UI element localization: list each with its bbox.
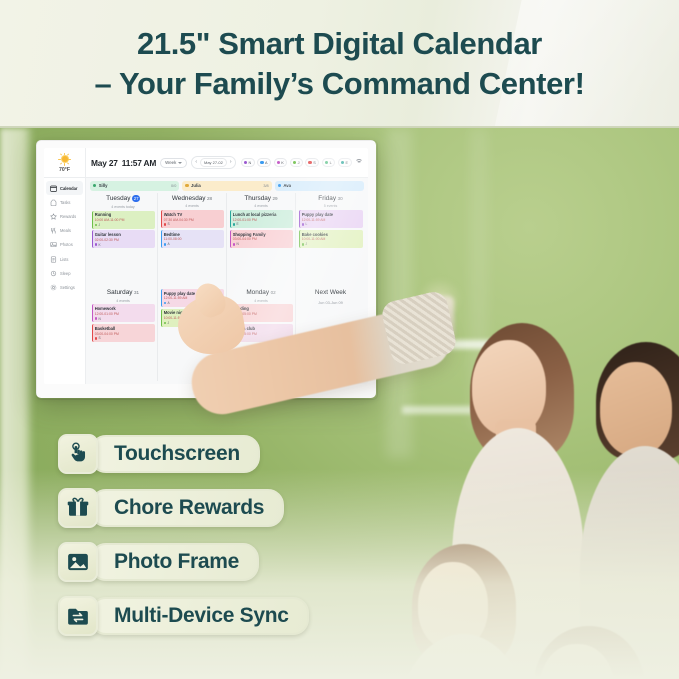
day-number: 02: [271, 290, 276, 295]
event-assignee: S: [95, 336, 153, 340]
headline-line-1: 21.5" Smart Digital Calendar: [137, 24, 542, 64]
assignee-dot: [95, 224, 98, 227]
event-title: Watch TV: [164, 212, 222, 217]
member-color-dot: [93, 184, 96, 187]
event-card[interactable]: Lunch at local pizzeria12:00-01:00 PME: [230, 210, 293, 228]
day-event-count: 4 events: [161, 204, 224, 208]
assignee-dot: [233, 243, 236, 246]
feature-icon-box: [58, 434, 98, 474]
assignee-dot: [233, 223, 236, 226]
avatar-chip-k[interactable]: K: [274, 158, 288, 166]
current-time: 11:57 AM: [122, 158, 156, 168]
feature-badge-list: TouchscreenChore RewardsPhoto FrameMulti…: [58, 434, 309, 636]
day-column-saturday[interactable]: Saturday314 eventsHomework12:00-01:00 PM…: [89, 287, 158, 381]
sidebar-item-label: Rewards: [60, 214, 76, 219]
feature-badge-multi-device-sync: Multi-Device Sync: [58, 596, 309, 636]
avatar-dot: [293, 161, 296, 164]
event-time: 03:00-04:00 PM: [95, 332, 153, 336]
avatar-initial: S: [313, 161, 316, 165]
assignee-initial: L: [305, 222, 307, 226]
father-face: [600, 362, 672, 456]
event-time: 12:00-01:00 PM: [95, 312, 153, 316]
event-card[interactable]: Puppy play date12:00-11:59 AML: [299, 210, 363, 228]
sidebar-item-meals[interactable]: Meals: [46, 224, 83, 238]
member-card-ava[interactable]: Ava: [275, 181, 364, 191]
view-mode-label: Week: [165, 160, 176, 165]
day-header: Friday30: [299, 195, 363, 202]
sync-icon: [66, 604, 90, 628]
day-header: Thursday29: [230, 195, 293, 202]
temperature-value: 70°F: [59, 167, 70, 173]
assignee-initial: E: [236, 222, 238, 226]
assignee-dot: [164, 322, 167, 325]
avatar-initial: N: [248, 161, 251, 165]
app-sidebar: CalendarTasksRewardsMealsPhotosListsSlee…: [44, 178, 86, 384]
avatar-chip-s[interactable]: S: [305, 158, 319, 166]
event-title: Bedtime: [164, 232, 222, 237]
wifi-icon: [355, 159, 363, 166]
feature-label: Photo Frame: [90, 543, 259, 581]
event-time: 11:00-08:00: [164, 237, 222, 241]
avatar-chip-l[interactable]: L: [322, 158, 336, 166]
meals-icon: [50, 227, 57, 234]
day-number: 27: [132, 195, 139, 202]
event-card[interactable]: Homework12:00-01:00 PMN: [92, 304, 155, 322]
headline-line-2: – Your Family’s Command Center!: [94, 64, 584, 104]
day-event-count: 5 events: [299, 204, 363, 208]
assignee-dot: [95, 317, 98, 320]
settings-icon: [50, 284, 57, 291]
calendar-icon: [50, 185, 57, 192]
avatar-initial: L: [330, 161, 332, 165]
event-title: Bake cookies: [302, 232, 361, 237]
assignee-initial: K: [98, 243, 100, 247]
feature-icon-box: [58, 542, 98, 582]
app-topbar: 70°F May 27 11:57 AM Week ‹ May 27-02 › …: [44, 148, 368, 178]
day-number: 31: [134, 290, 139, 295]
day-name: Friday: [318, 195, 336, 202]
feature-icon-box: [58, 596, 98, 636]
event-time: 12:00-11:59 AM: [302, 218, 361, 222]
assignee-initial: A: [167, 242, 169, 246]
day-event-count: 4 events: [230, 204, 293, 208]
event-time: 02:00-02:30 PM: [95, 238, 153, 242]
day-number: 28: [207, 196, 212, 201]
touch-hand-icon: [66, 442, 90, 466]
photos-icon: [50, 241, 57, 248]
member-task-count: 0/0: [171, 184, 176, 188]
photo-icon: [66, 550, 90, 574]
event-assignee: J: [302, 242, 361, 246]
day-event-count: 4 events: [92, 299, 155, 303]
assignee-initial: J: [305, 242, 307, 246]
feature-label: Chore Rewards: [90, 489, 284, 527]
date-range-nav[interactable]: ‹ May 27-02 ›: [191, 156, 235, 170]
sidebar-item-label: Sleep: [60, 271, 70, 276]
event-time: 12:00-01:00 PM: [233, 218, 291, 222]
day-header: Saturday31: [92, 289, 155, 296]
assignee-initial: N: [98, 317, 100, 321]
sidebar-item-label: Calendar: [60, 186, 78, 191]
sidebar-item-rewards[interactable]: Rewards: [46, 209, 83, 223]
event-card[interactable]: Basketball03:00-04:00 PMS: [92, 324, 155, 342]
sun-icon: [58, 153, 71, 166]
next-week-icon[interactable]: ›: [230, 160, 232, 165]
tasks-icon: [50, 199, 57, 206]
weather-widget[interactable]: 70°F: [44, 148, 86, 177]
event-card[interactable]: Bedtime11:00-08:00A: [161, 230, 224, 248]
member-name: Julia: [191, 183, 201, 188]
event-time: 03:00-04:00 PM: [233, 237, 291, 241]
event-assignee: A: [164, 242, 222, 246]
event-title: Running: [95, 212, 153, 217]
sidebar-item-calendar[interactable]: Calendar: [46, 181, 83, 195]
member-color-dot: [278, 184, 281, 187]
event-assignee: E: [233, 222, 291, 226]
feature-label: Multi-Device Sync: [90, 597, 309, 635]
member-card-silly[interactable]: Silly0/0: [90, 181, 179, 191]
event-title: Guitar lesson: [95, 232, 153, 237]
feature-badge-touchscreen: Touchscreen: [58, 434, 309, 474]
sidebar-item-label: Meals: [60, 228, 71, 233]
rewards-icon: [50, 213, 57, 220]
member-avatar-filters: NAKJSLE: [241, 158, 363, 166]
day-number: 30: [338, 196, 343, 201]
assignee-initial: N: [236, 242, 238, 246]
day-name: Thursday: [244, 195, 271, 202]
avatar-dot: [325, 161, 328, 164]
day-name: Saturday: [107, 289, 133, 296]
prev-week-icon[interactable]: ‹: [195, 160, 197, 165]
event-assignee: J: [95, 223, 153, 227]
sidebar-item-photos[interactable]: Photos: [46, 238, 83, 252]
event-card[interactable]: Running10:00 AM-11:00 PMJ: [92, 211, 155, 229]
avatar-dot: [277, 161, 280, 164]
headline-banner: 21.5" Smart Digital Calendar – Your Fami…: [0, 0, 679, 128]
avatar-chip-a[interactable]: A: [257, 158, 271, 166]
sidebar-item-label: Lists: [60, 257, 68, 262]
avatar-initial: J: [298, 161, 300, 165]
event-title: Homework: [95, 306, 153, 311]
feature-badge-chore-rewards: Chore Rewards: [58, 488, 309, 528]
day-header: Monday02: [230, 289, 293, 296]
current-date: May 27: [91, 158, 118, 168]
assignee-initial: J: [167, 321, 169, 325]
view-mode-select[interactable]: Week: [160, 158, 187, 168]
avatar-chip-j[interactable]: J: [290, 158, 303, 166]
event-title: Puppy play date: [302, 212, 361, 217]
assignee-dot: [164, 223, 167, 226]
day-column-tuesday[interactable]: Tuesday274 events todayRunning10:00 AM-1…: [89, 193, 158, 287]
assignee-initial: A: [167, 301, 169, 305]
avatar-initial: A: [265, 161, 268, 165]
member-card-julia[interactable]: Julia3/8: [182, 181, 271, 191]
event-title: Lunch at local pizzeria: [233, 212, 291, 217]
avatar-dot: [341, 161, 344, 164]
feature-label: Touchscreen: [90, 435, 260, 473]
event-time: 10:00-11:00 AM: [302, 237, 361, 241]
avatar-dot: [260, 161, 263, 164]
day-column-thursday[interactable]: Thursday294 eventsLunch at local pizzeri…: [227, 193, 296, 287]
date-range-label: May 27-02: [200, 158, 227, 167]
sidebar-item-label: Tasks: [60, 200, 70, 205]
member-name: Ava: [283, 183, 291, 188]
member-name: Silly: [99, 183, 108, 188]
day-header: Next Week: [299, 289, 363, 296]
chevron-down-icon: [178, 162, 182, 164]
sleep-icon: [50, 270, 57, 277]
day-name: Tuesday: [106, 195, 130, 202]
event-assignee: N: [95, 317, 153, 321]
gift-icon: [66, 496, 90, 520]
avatar-dot: [244, 161, 247, 164]
event-card[interactable]: Bake cookies10:00-11:00 AMJ: [299, 230, 363, 248]
avatar-chip-e[interactable]: E: [338, 158, 352, 166]
topbar-main: May 27 11:57 AM Week ‹ May 27-02 › NAKJS…: [86, 148, 368, 177]
day-event-count: Jun 03-Jun 09: [299, 300, 363, 305]
day-header: Tuesday27: [92, 195, 155, 202]
day-header: Wednesday28: [161, 195, 224, 202]
assignee-dot: [164, 302, 167, 305]
day-number: 29: [273, 196, 278, 201]
feature-badge-photo-frame: Photo Frame: [58, 542, 309, 582]
sidebar-item-label: Photos: [60, 242, 73, 247]
assignee-initial: S: [167, 222, 169, 226]
sidebar-item-tasks[interactable]: Tasks: [46, 195, 83, 209]
feature-icon-box: [58, 488, 98, 528]
event-assignee: S: [164, 222, 222, 226]
assignee-initial: S: [98, 336, 100, 340]
avatar-dot: [308, 161, 311, 164]
day-name: Wednesday: [172, 195, 206, 202]
event-assignee: N: [233, 242, 291, 246]
sidebar-item-settings[interactable]: Settings: [46, 280, 83, 294]
day-event-count: 4 events: [230, 299, 293, 303]
avatar-initial: E: [345, 161, 348, 165]
avatar-chip-n[interactable]: N: [241, 158, 255, 166]
event-card[interactable]: Shopping Family03:00-04:00 PMN: [230, 230, 293, 248]
day-event-count: 4 events today: [92, 205, 155, 209]
event-assignee: L: [302, 222, 361, 226]
event-title: Shopping Family: [233, 232, 291, 237]
event-assignee: K: [95, 243, 153, 247]
day-name: Next Week: [315, 289, 346, 296]
event-title: Basketball: [95, 326, 153, 331]
event-card[interactable]: Guitar lesson02:00-02:30 PMK: [92, 230, 155, 248]
assignee-dot: [95, 243, 98, 246]
sidebar-item-sleep[interactable]: Sleep: [46, 266, 83, 280]
assignee-dot: [302, 223, 305, 226]
day-name: Monday: [246, 289, 269, 296]
lists-icon: [50, 256, 57, 263]
member-summary-row: Silly0/0Julia3/8Ava: [86, 178, 368, 193]
event-time: 10:00 AM-11:00 PM: [95, 218, 153, 222]
assignee-dot: [302, 243, 305, 246]
sidebar-item-lists[interactable]: Lists: [46, 252, 83, 266]
avatar-initial: K: [281, 161, 284, 165]
day-column-friday[interactable]: Friday305 eventsPuppy play date12:00-11:…: [296, 193, 365, 287]
day-column-wednesday[interactable]: Wednesday284 eventsWatch TV07:30 AM-04:3…: [158, 193, 227, 287]
event-card[interactable]: Watch TV07:30 AM-04:30 PMS: [161, 210, 224, 228]
member-task-count: 3/8: [263, 184, 268, 188]
member-color-dot: [185, 184, 188, 187]
event-time: 07:30 AM-04:30 PM: [164, 218, 222, 222]
assignee-dot: [164, 243, 167, 246]
assignee-initial: J: [98, 223, 100, 227]
sidebar-item-label: Settings: [60, 285, 75, 290]
assignee-dot: [95, 337, 98, 340]
